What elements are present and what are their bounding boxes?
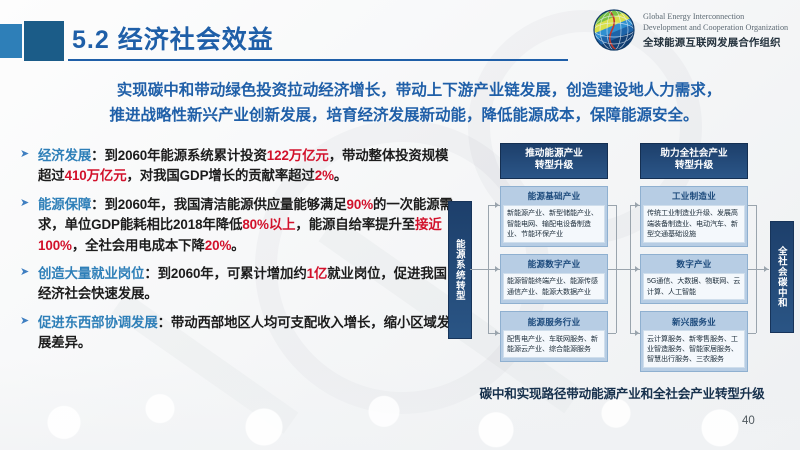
diagram-card-title: 能源数字产业 [503, 257, 605, 273]
connector-arrow [635, 330, 639, 336]
diagram-card-body: 配售电产业、车联网服务、新能源云产业、综合能源服务 [503, 330, 605, 358]
bullet-highlight-value: 2% [315, 168, 334, 183]
diagram-card-title: 能源基础产业 [503, 189, 605, 205]
slide-canvas: 5.2 经济社会效益 [0, 0, 800, 450]
organization-logo: Global Energy Interconnection Developmen… [592, 8, 788, 52]
bullet-body-text: ：到2060年，我国清洁能源供应量能够满足 [91, 197, 346, 212]
lead-paragraph: 实现碳中和带动绿色投资拉动经济增长，带动上下游产业链发展，创造建设地人力需求， … [34, 78, 774, 128]
bullet-highlight-value: 1亿 [307, 266, 328, 281]
bullet-highlight-value: 20% [205, 238, 232, 253]
connector-line [608, 205, 616, 206]
arrow-bullet-icon: ➤ [20, 316, 29, 327]
logo-en-line1: Global Energy Interconnection [643, 11, 788, 22]
bullet-label: 能源保障 [38, 197, 91, 212]
bullet-body-text: ，全社会用电成本下降 [72, 238, 205, 253]
bullet-body-text: ，对我国GDP增长的贡献率超过 [127, 168, 315, 183]
bullet-label: 促进东西部协调发展 [38, 315, 158, 330]
connector-line [748, 333, 756, 334]
bullet-item: ➤经济发展：到2060年能源系统累计投资122万亿元，带动整体投资规模超过410… [18, 146, 458, 187]
bullet-body-text: 。 [334, 168, 347, 183]
transition-diagram: 能源系统转型 全社会碳中和 推动能源产业转型升级能源 [444, 143, 796, 383]
bullet-list: ➤经济发展：到2060年能源系统累计投资122万亿元，带动整体投资规模超过410… [18, 146, 458, 361]
logo-en-line2: Development and Cooperation Organization [643, 22, 788, 33]
bullet-text: 创造大量就业岗位：到2060年，可累计增加约1亿就业岗位，促进我国经济社会快速发… [38, 264, 458, 305]
bullet-item: ➤促进东西部协调发展：带动西部地区人均可支配收入增长，缩小区域发展差异。 [18, 313, 458, 354]
connector-arrow [495, 202, 499, 208]
diagram-card-body: 能源智能终端产业、能源传感通信产业、能源大数据产业 [503, 273, 605, 301]
arrow-bullet-icon: ➤ [20, 149, 29, 160]
logo-text-block: Global Energy Interconnection Developmen… [643, 11, 788, 49]
bullet-highlight-value: 410万亿元 [65, 168, 127, 183]
connector-line [608, 333, 616, 334]
connector-line [748, 269, 756, 270]
diagram-card-body: 新能源产业、新型储能产业、智能电网、输配电设备制造业、节能环保产业 [503, 205, 605, 243]
diagram-column-header-line2: 转型升级 [503, 160, 605, 172]
title-divider [68, 59, 568, 61]
diagram-card-title: 数字产业 [643, 257, 745, 273]
bullet-item: ➤创造大量就业岗位：到2060年，可累计增加约1亿就业岗位，促进我国经济社会快速… [18, 264, 458, 305]
bullet-body-text: ：到2060年能源系统累计投资 [91, 148, 267, 163]
page-title: 5.2 经济社会效益 [72, 20, 274, 56]
bullet-label: 经济发展 [38, 148, 91, 163]
diagram-left-label-text: 能源系统转型 [454, 239, 466, 301]
arrow-bullet-icon: ➤ [20, 198, 29, 209]
lead-line-2: 推进战略性新兴产业创新发展，培育经济发展新动能，降低能源成本，保障能源安全。 [34, 103, 774, 128]
page-number: 40 [742, 415, 755, 427]
logo-cn-name: 全球能源互联网发展合作组织 [643, 34, 788, 49]
diagram-card: 新兴服务业云计算服务、新零售服务、工业智造服务、智能家居服务、智慧出行服务、三农… [640, 311, 748, 372]
diagram-caption: 碳中和实现路径带动能源产业和全社会产业转型升级 [448, 383, 796, 402]
diagram-column-header-line1: 推动能源产业 [503, 148, 605, 160]
diagram-card: 数字产业5G通信、大数据、物联网、云计算、人工智能 [640, 254, 748, 305]
bullet-text: 促进东西部协调发展：带动西部地区人均可支配收入增长，缩小区域发展差异。 [38, 313, 458, 354]
title-accent-square-light [0, 24, 22, 58]
bullet-highlight-value: 80%以上 [242, 217, 295, 232]
bullet-label: 创造大量就业岗位 [38, 266, 144, 281]
connector-line [470, 269, 488, 270]
diagram-left-label: 能源系统转型 [448, 201, 472, 339]
bullet-text: 能源保障：到2060年，我国清洁能源供应量能够满足90%的一次能源需求，单位GD… [38, 195, 458, 256]
connector-arrow [495, 330, 499, 336]
diagram-card: 能源基础产业新能源产业、新型储能产业、智能电网、输配电设备制造业、节能环保产业 [500, 186, 608, 247]
diagram-card-title: 新兴服务业 [643, 314, 745, 330]
diagram-card: 能源服务行业配售电产业、车联网服务、新能源云产业、综合能源服务 [500, 311, 608, 362]
bullet-body-text: 。 [231, 238, 244, 253]
diagram-column-society-industry: 助力全社会产业转型升级工业制造业传统工业制造业升级、发展高端装备制造业、电动汽车… [640, 143, 748, 372]
arrow-bullet-icon: ➤ [20, 267, 29, 278]
diagram-column-header-line2: 转型升级 [643, 160, 745, 172]
diagram-right-label-text: 全社会碳中和 [776, 246, 788, 308]
diagram-card: 工业制造业传统工业制造业升级、发展高端装备制造业、电动汽车、新型交通基础设施 [640, 186, 748, 247]
diagram-card-body: 5G通信、大数据、物联网、云计算、人工智能 [643, 273, 745, 301]
diagram-card-body: 云计算服务、新零售服务、工业智造服务、智能家居服务、智慧出行服务、三农服务 [643, 330, 745, 368]
bullet-highlight-value: 90% [347, 197, 374, 212]
connector-arrow [635, 202, 639, 208]
diagram-card-title: 工业制造业 [643, 189, 745, 205]
diagram-column-header-line1: 助力全社会产业 [643, 148, 745, 160]
bullet-item: ➤能源保障：到2060年，我国清洁能源供应量能够满足90%的一次能源需求，单位G… [18, 195, 458, 256]
bullet-text: 经济发展：到2060年能源系统累计投资122万亿元，带动整体投资规模超过410万… [38, 146, 458, 187]
connector-arrow [495, 266, 499, 272]
connector-arrow [635, 266, 639, 272]
bullet-highlight-value: 122万亿元 [267, 148, 329, 163]
diagram-right-label: 全社会碳中和 [770, 221, 794, 333]
diagram-column-header: 推动能源产业转型升级 [500, 143, 608, 179]
connector-line [748, 205, 756, 206]
diagram-column-energy-industry: 推动能源产业转型升级能源基础产业新能源产业、新型储能产业、智能电网、输配电设备制… [500, 143, 608, 362]
globe-icon [592, 8, 636, 52]
lead-line-1: 实现碳中和带动绿色投资拉动经济增长，带动上下游产业链发展，创造建设地人力需求， [34, 78, 774, 103]
connector-line [616, 269, 630, 270]
connector-line [608, 269, 616, 270]
diagram-column-header: 助力全社会产业转型升级 [640, 143, 748, 179]
connector-arrow [764, 266, 768, 272]
bullet-body-text: ，能源自给率提升至 [295, 217, 415, 232]
title-accent-square-dark [24, 21, 64, 61]
diagram-card-body: 传统工业制造业升级、发展高端装备制造业、电动汽车、新型交通基础设施 [643, 205, 745, 243]
diagram-card: 能源数字产业能源智能终端产业、能源传感通信产业、能源大数据产业 [500, 254, 608, 305]
diagram-card-title: 能源服务行业 [503, 314, 605, 330]
bullet-body-text: ：到2060年，可累计增加约 [144, 266, 306, 281]
